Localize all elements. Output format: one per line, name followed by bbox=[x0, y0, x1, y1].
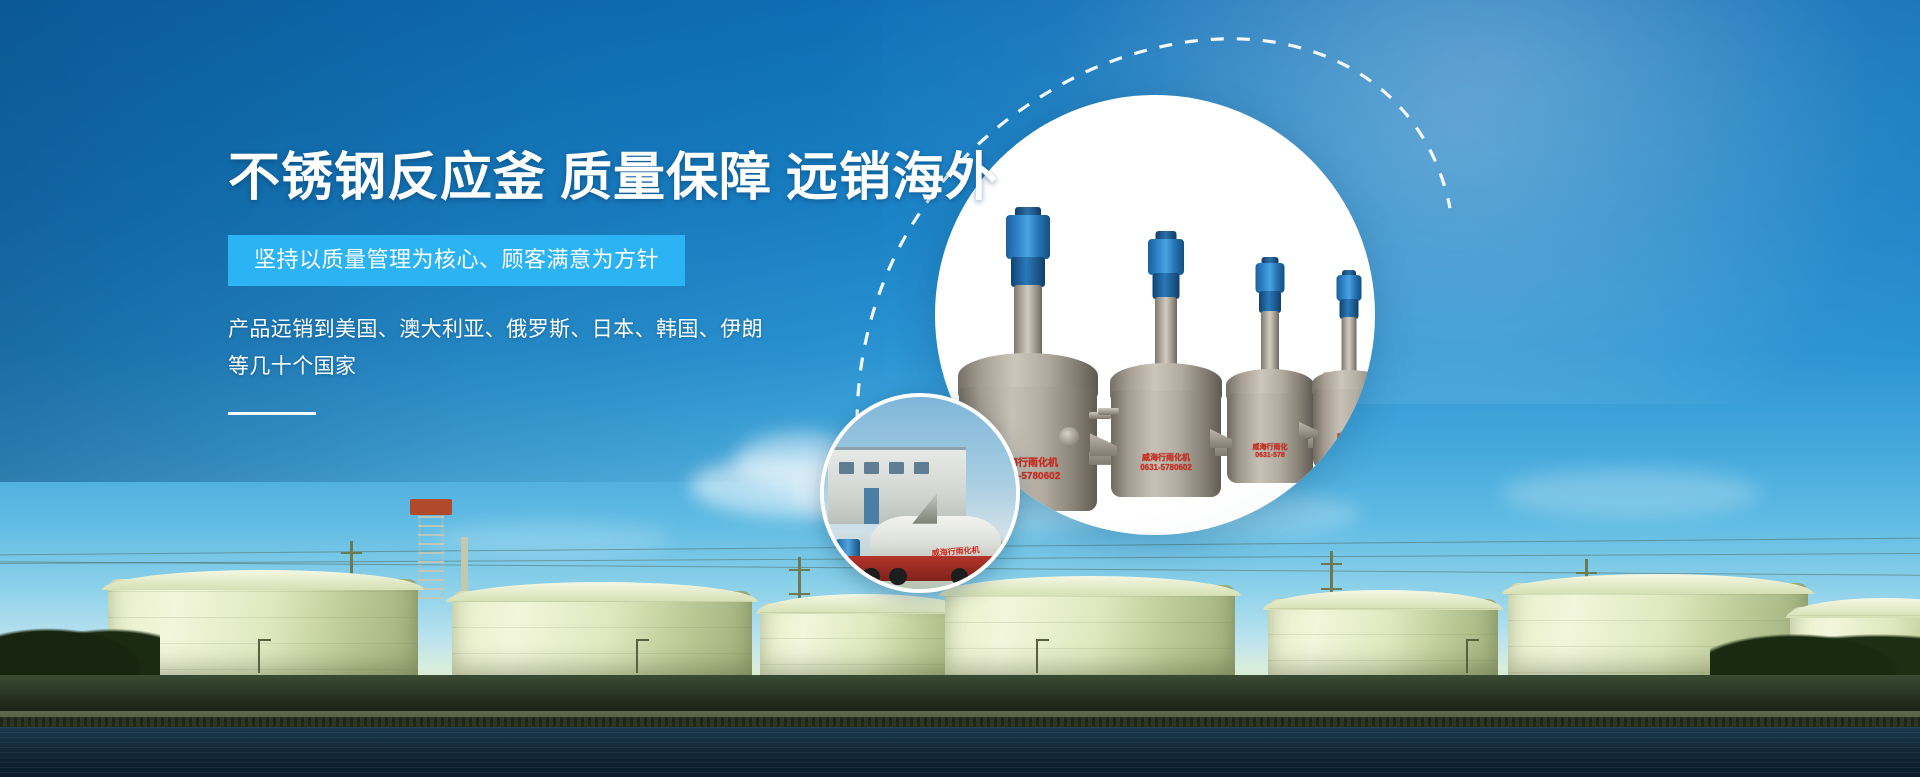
reactor-vessel: 威海行雨 0631-578 bbox=[1313, 247, 1375, 469]
inset-wheel bbox=[862, 568, 879, 585]
storage-tank bbox=[1268, 599, 1498, 677]
street-lamp-icon bbox=[636, 639, 638, 673]
reactor-vessel: 威海行雨化 0631-578 bbox=[1227, 233, 1313, 483]
inset-window bbox=[864, 462, 879, 474]
page-title: 不锈钢反应釜质量保障远销海外 bbox=[228, 150, 868, 207]
motor-icon bbox=[1006, 215, 1050, 259]
headline-part-3: 远销海外 bbox=[786, 148, 998, 208]
vessel-body bbox=[1227, 393, 1313, 483]
street-lamp-icon bbox=[1466, 639, 1468, 673]
motor-icon bbox=[1337, 275, 1362, 301]
hero-banner: 威海行雨化机 0631-5780602 威海行雨化机 0631-5780602 bbox=[0, 0, 1920, 777]
gearbox-icon bbox=[1153, 273, 1180, 299]
motor-icon bbox=[1256, 263, 1285, 293]
inset-window bbox=[839, 462, 854, 474]
gearbox-icon bbox=[1340, 299, 1359, 319]
inset-window bbox=[889, 462, 904, 474]
vessel-body bbox=[1313, 389, 1375, 469]
side-nozzle bbox=[1098, 408, 1119, 415]
banner-description: 产品远销到美国、澳大利亚、俄罗斯、日本、韩国、伊朗 等几十个国家 bbox=[228, 312, 868, 386]
vessel-brand-text: 威海行雨化 bbox=[1253, 444, 1288, 453]
headline-part-2: 质量保障 bbox=[560, 148, 772, 208]
storage-tank bbox=[945, 585, 1235, 677]
water-surface bbox=[0, 727, 1920, 777]
inset-wheel bbox=[889, 568, 906, 585]
tree-line bbox=[1710, 627, 1920, 679]
slogan-badge: 坚持以质量管理为核心、顾客满意为方针 bbox=[228, 235, 685, 286]
street-lamp-icon bbox=[1036, 639, 1038, 673]
inset-photo-circle: 威海行雨化机 0631-5780602 bbox=[820, 393, 1020, 593]
inset-wheel bbox=[951, 568, 968, 585]
storage-tank bbox=[760, 603, 970, 677]
description-line-1: 产品远销到美国、澳大利亚、俄罗斯、日本、韩国、伊朗 bbox=[228, 312, 868, 349]
gearbox-icon bbox=[1011, 257, 1045, 287]
inspection-port bbox=[1059, 427, 1079, 447]
divider-rule-icon bbox=[228, 412, 316, 415]
tree-line bbox=[0, 621, 160, 679]
headline-part-1: 不锈钢反应釜 bbox=[228, 148, 546, 208]
banner-copy: 不锈钢反应釜质量保障远销海外 坚持以质量管理为核心、顾客满意为方针 产品远销到美… bbox=[228, 150, 868, 415]
vessel-phone-text: 0631-578 bbox=[1336, 442, 1361, 450]
inset-window bbox=[914, 462, 929, 474]
description-line-2: 等几十个国家 bbox=[228, 349, 868, 386]
vessel-phone-text: 0631-578 bbox=[1253, 452, 1288, 461]
inset-door bbox=[864, 488, 879, 523]
gearbox-icon bbox=[1259, 291, 1281, 313]
storage-tank bbox=[452, 591, 752, 677]
inset-warehouse bbox=[828, 447, 966, 524]
refinery-tower-top bbox=[410, 499, 452, 515]
motor-icon bbox=[1148, 239, 1184, 275]
vessel-brand-text: 威海行雨 bbox=[1336, 434, 1361, 442]
street-lamp-icon bbox=[258, 639, 260, 673]
reactor-vessel: 威海行雨化机 0631-5780602 bbox=[1111, 207, 1221, 497]
vessel-phone-text: 0631-5780602 bbox=[1140, 463, 1192, 473]
refinery-tower bbox=[418, 507, 444, 599]
agitator-shaft bbox=[1342, 317, 1357, 377]
vessel-body bbox=[1111, 391, 1221, 497]
vessel-brand-text: 威海行雨化机 bbox=[1140, 453, 1192, 463]
